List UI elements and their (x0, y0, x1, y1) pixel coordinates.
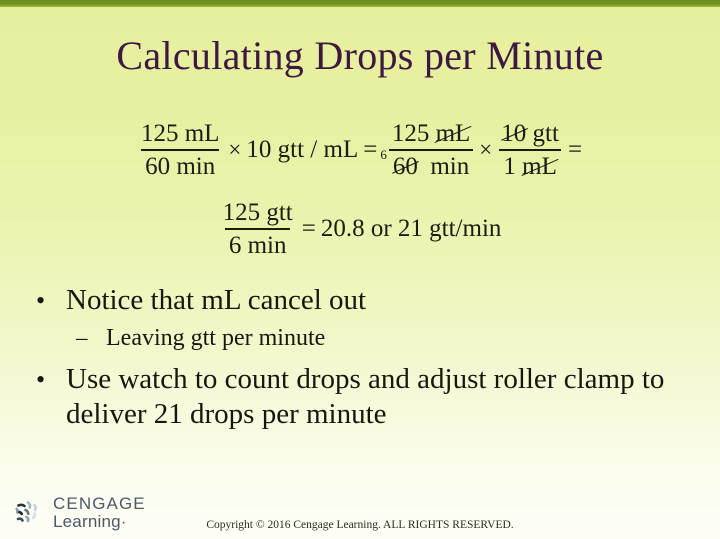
fraction-denominator: 60 min (141, 149, 219, 181)
dash-marker-icon: – (76, 322, 106, 354)
fraction-10gtt-over-1ml-cancelled: 10 gtt 1 mL (497, 120, 563, 181)
fraction-numerator: 125 mL (137, 120, 223, 149)
logo-line-1: CENGAGE (53, 495, 146, 512)
multiply-operator-2: × (476, 137, 495, 163)
fraction-numerator: 10 gtt (497, 120, 563, 149)
fraction-denominator: 1 mL (499, 149, 560, 181)
numerator-number: 125 (392, 120, 430, 147)
fraction-numerator: 125 mL (388, 120, 474, 149)
bullet-text: Use watch to count drops and adjust roll… (66, 362, 684, 432)
list-item: • Notice that mL cancel out (36, 283, 684, 318)
bullet-list: • Notice that mL cancel out – Leaving gt… (36, 283, 684, 435)
cancelled-number-10: 10 (501, 120, 526, 148)
equation-block: 125 mL 60 min × 10 gtt / mL = 6 125 mL 6… (0, 112, 720, 266)
cancelled-unit-ml: mL (436, 120, 471, 148)
cancelled-number-60: 60 (393, 153, 418, 181)
page-title: Calculating Drops per Minute (0, 33, 720, 79)
copyright-notice: Copyright © 2016 Cengage Learning. ALL R… (0, 519, 720, 531)
bullet-marker-icon: • (36, 283, 66, 318)
fraction-numerator: 125 gtt (219, 199, 297, 228)
fraction-125ml-over-60min-cancelled: 125 mL 60 min (388, 120, 474, 181)
sub-bullet-text: Leaving gtt per minute (106, 322, 325, 354)
numerator-unit: gtt (533, 120, 559, 147)
equals-operator-3: = (299, 215, 319, 243)
cancelled-unit-ml: mL (522, 153, 557, 181)
fraction-denominator: 6 min (225, 228, 291, 260)
fraction-125gtt-over-6min: 125 gtt 6 min (219, 199, 297, 260)
equation-result: 20.8 or 21 gtt/min (319, 215, 504, 243)
bullet-marker-icon: • (36, 362, 66, 397)
bullet-text: Notice that mL cancel out (66, 283, 684, 318)
slide-canvas: Calculating Drops per Minute 125 mL 60 m… (0, 0, 720, 539)
term-10-gtt-per-ml: 10 gtt / mL (244, 136, 360, 164)
list-item-sub: – Leaving gtt per minute (76, 322, 684, 354)
equals-operator-2: = (565, 136, 585, 164)
fraction-125ml-over-60min: 125 mL 60 min (137, 120, 223, 181)
equation-line-1: 125 mL 60 min × 10 gtt / mL = 6 125 mL 6… (0, 112, 720, 188)
equation-line-2: 125 gtt 6 min = 20.8 or 21 gtt/min (0, 192, 720, 266)
list-item: • Use watch to count drops and adjust ro… (36, 362, 684, 432)
multiply-operator-1: × (225, 137, 244, 163)
denominator-number: 1 (503, 153, 516, 180)
denominator-subscript-6: 6 (380, 147, 387, 163)
top-accent-bar (0, 0, 720, 7)
equals-operator-1: = (360, 136, 380, 164)
denominator-unit: min (430, 153, 469, 180)
fraction-denominator: 60 min (389, 149, 473, 181)
